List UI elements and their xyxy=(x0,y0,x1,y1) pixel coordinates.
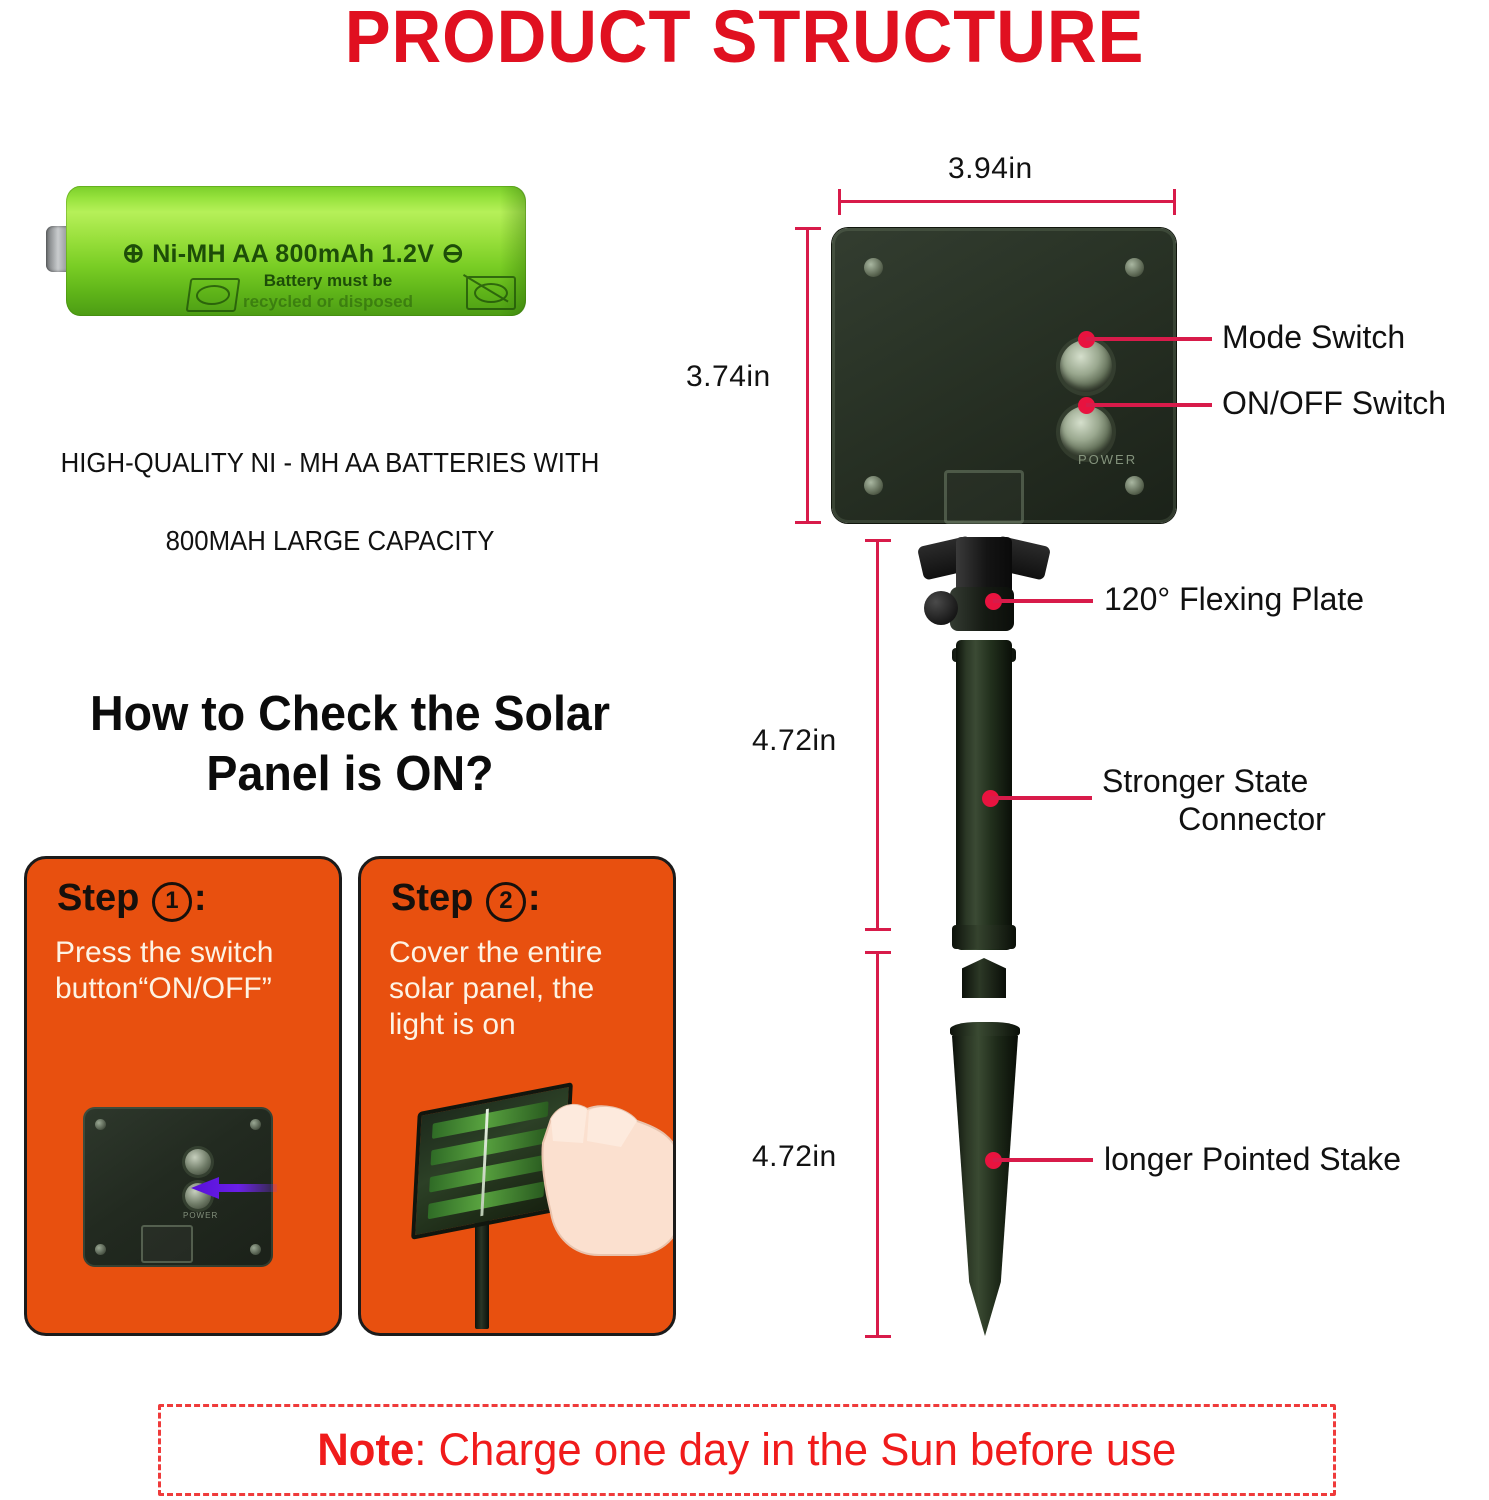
dimension-cap xyxy=(865,928,891,931)
connector-bottom-collar xyxy=(952,925,1016,949)
callout-flexing-plate: 120° Flexing Plate xyxy=(1104,580,1364,618)
bracket-body xyxy=(950,587,1014,631)
page-title: PRODUCT STRUCTURE xyxy=(52,0,1437,79)
dimension-label-height: 3.74in xyxy=(686,360,771,394)
recycle-icon xyxy=(186,278,241,312)
power-label: POWER xyxy=(183,1211,218,1220)
step-1-title-prefix: Step xyxy=(57,877,139,919)
callout-mode-switch: Mode Switch xyxy=(1222,318,1405,356)
dimension-label-width: 3.94in xyxy=(948,152,1033,186)
leader-line-flexing-plate xyxy=(993,599,1093,603)
mode-switch-button xyxy=(185,1149,211,1175)
screw-icon xyxy=(250,1244,261,1255)
flexing-plate-bracket xyxy=(920,537,1048,645)
battery-caption: HIGH-QUALITY NI - MH AA BATTERIES WITH 8… xyxy=(26,424,633,580)
battery-caption-line-1: HIGH-QUALITY NI - MH AA BATTERIES WITH xyxy=(61,447,600,478)
step-1-title: Step 1: xyxy=(57,877,207,922)
note-banner: Note: Charge one day in the Sun before u… xyxy=(158,1404,1336,1496)
step-2-card: Step 2: Cover the entire solar panel, th… xyxy=(358,856,676,1336)
leader-line-mode-switch xyxy=(1086,337,1212,341)
dimension-label-connector: 4.72in xyxy=(752,724,837,758)
screw-icon xyxy=(864,258,883,277)
screw-icon xyxy=(1125,258,1144,277)
howto-heading-line-2: Panel is ON? xyxy=(206,747,493,801)
dimension-label-stake: 4.72in xyxy=(752,1140,837,1174)
battery-label-text: ⊕ Ni-MH AA 800mAh 1.2V ⊖ xyxy=(122,238,522,269)
step-1-title-suffix: : xyxy=(194,877,207,919)
dimension-cap xyxy=(838,189,841,215)
power-label: POWER xyxy=(1078,452,1137,467)
step-2-photo xyxy=(369,1081,669,1331)
callout-connector-line-1: Stronger State xyxy=(1102,762,1402,800)
callout-connector: Stronger State Connector xyxy=(1102,762,1402,838)
note-text: Note: Charge one day in the Sun before u… xyxy=(318,1424,1177,1476)
dimension-cap xyxy=(865,1335,891,1338)
callout-on-off-switch: ON/OFF Switch xyxy=(1222,384,1446,422)
step-2-number: 2 xyxy=(486,882,526,922)
step-1-text: Press the switch button“ON/OFF” xyxy=(55,935,323,1007)
battery-caption-line-2: 800MAH LARGE CAPACITY xyxy=(26,502,633,580)
plus-icon: ⊕ xyxy=(122,238,145,268)
note-bold: Note xyxy=(318,1424,415,1475)
leader-line-on-off-switch xyxy=(1086,403,1212,407)
step-2-title-suffix: : xyxy=(528,877,541,919)
battery-body: ⊕ Ni-MH AA 800mAh 1.2V ⊖ Battery must be… xyxy=(66,186,526,316)
step-2-title: Step 2: xyxy=(391,877,541,922)
howto-heading: How to Check the Solar Panel is ON? xyxy=(18,684,683,804)
dimension-line-width xyxy=(840,200,1176,203)
dimension-cap xyxy=(865,539,891,542)
leader-line-stake xyxy=(993,1158,1093,1162)
leader-line-connector xyxy=(990,796,1092,800)
solar-panel-housing: POWER xyxy=(832,228,1176,523)
screw-icon xyxy=(95,1244,106,1255)
housing-tab xyxy=(944,470,1024,524)
disposal-line-1: Battery must be xyxy=(264,271,392,290)
battery-spec: Ni-MH AA 800mAh 1.2V xyxy=(152,240,434,268)
dimension-cap xyxy=(795,227,821,230)
pointed-stake xyxy=(952,1036,1018,1336)
step-1-photo: POWER xyxy=(67,1101,289,1273)
minus-icon: ⊖ xyxy=(441,238,464,268)
note-rest: : Charge one day in the Sun before use xyxy=(415,1424,1177,1475)
step-1-number: 1 xyxy=(152,882,192,922)
dimension-line-height xyxy=(806,228,809,523)
screw-icon xyxy=(250,1119,261,1130)
dimension-line-connector xyxy=(876,540,879,930)
stake-top-cap xyxy=(962,958,1006,998)
howto-heading-line-1: How to Check the Solar xyxy=(90,687,610,741)
bracket-knob xyxy=(924,591,958,625)
purple-arrow-icon xyxy=(185,1175,277,1201)
no-bin-icon xyxy=(466,276,516,310)
battery-image: ⊕ Ni-MH AA 800mAh 1.2V ⊖ Battery must be… xyxy=(38,178,538,328)
callout-stake: longer Pointed Stake xyxy=(1104,1140,1401,1178)
step-2-text: Cover the entire solar panel, the light … xyxy=(389,935,657,1043)
dimension-cap xyxy=(795,521,821,524)
dimension-cap xyxy=(865,951,891,954)
screw-icon xyxy=(864,476,883,495)
screw-icon xyxy=(1125,476,1144,495)
screw-icon xyxy=(95,1119,106,1130)
step-1-card: Step 1: Press the switch button“ON/OFF” … xyxy=(24,856,342,1336)
step-2-title-prefix: Step xyxy=(391,877,473,919)
callout-connector-line-2: Connector xyxy=(1102,800,1402,838)
dimension-cap xyxy=(1173,189,1176,215)
housing-tab xyxy=(141,1225,193,1263)
dimension-line-stake xyxy=(876,952,879,1337)
hand-icon xyxy=(529,1085,676,1265)
